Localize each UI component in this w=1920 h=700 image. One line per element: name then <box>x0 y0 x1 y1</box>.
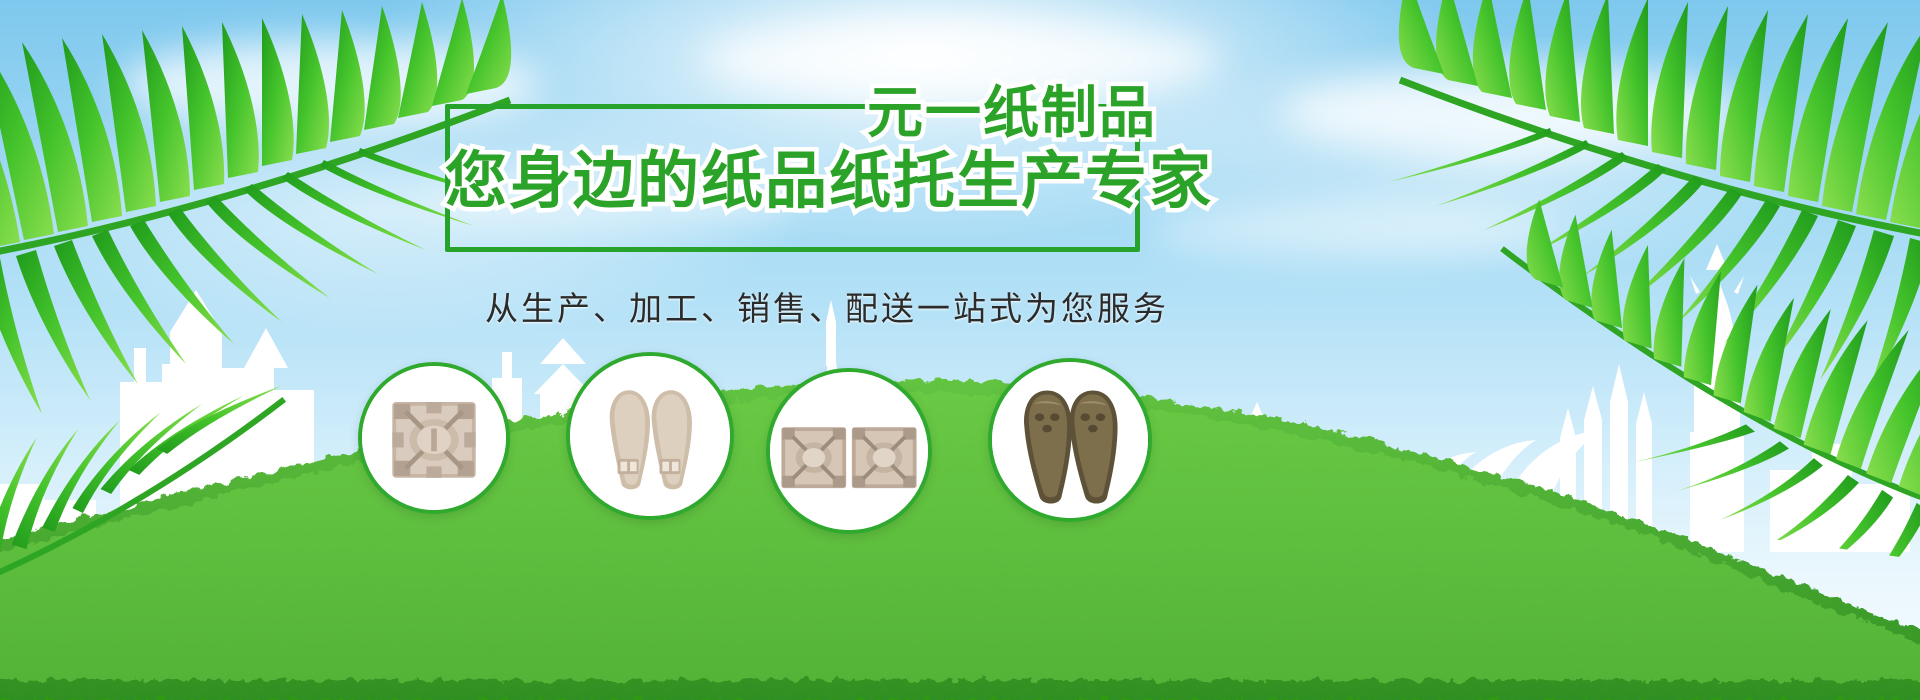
pulp-shoe-trees-dark-icon <box>992 362 1148 518</box>
pulp-tray-square-icon <box>362 366 506 510</box>
headline: 元一纸制品 您身边的纸品纸托生产专家 <box>445 86 1165 212</box>
headline-block: 元一纸制品 您身边的纸品纸托生产专家 从生产、加工、销售、配送一站式为您服务 <box>445 86 1165 212</box>
palm-leaf-icon <box>0 279 316 651</box>
headline-line-1: 元一纸制品 <box>445 86 1157 142</box>
headline-line-2: 您身边的纸品纸托生产专家 <box>445 150 1157 212</box>
promotional-banner: 元一纸制品 您身边的纸品纸托生产专家 从生产、加工、销售、配送一站式为您服务 <box>0 0 1920 700</box>
tagline: 从生产、加工、销售、配送一站式为您服务 <box>485 282 1165 330</box>
pulp-shoe-trees-light-icon <box>570 356 730 516</box>
palm-leaf-icon <box>1457 138 1920 561</box>
product-circle[interactable] <box>988 358 1152 522</box>
product-circle[interactable] <box>566 352 734 520</box>
product-circle[interactable] <box>766 368 932 534</box>
pulp-tray-pair-icon <box>770 372 928 530</box>
product-circle[interactable] <box>358 362 510 514</box>
